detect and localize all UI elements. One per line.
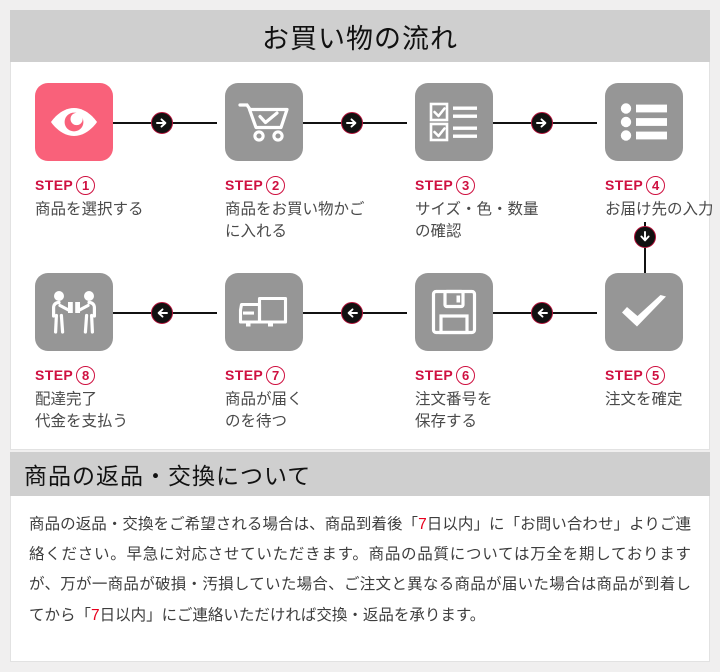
arrow-step6-to-step7 <box>341 302 363 324</box>
step-1[interactable]: STEP 1 商品を選択する <box>35 83 200 221</box>
returns-text-part-3: 日以内」にご連絡いただければ交換・返品を承ります。 <box>100 607 486 624</box>
step-6-description: 注文番号を 保存する <box>415 389 580 433</box>
step-1-label: STEP 1 <box>35 175 200 195</box>
floppy-disk-icon <box>431 289 477 335</box>
step-2-label: STEP 2 <box>225 175 390 195</box>
step-6[interactable]: STEP 6 注文番号を 保存する <box>415 273 580 433</box>
returns-policy-text: 商品の返品・交換をご希望される場合は、商品到着後「7日以内」に「お問い合わせ」よ… <box>29 510 691 631</box>
eye-icon <box>47 102 101 142</box>
shopping-cart-icon <box>238 99 290 145</box>
handoff-package-icon <box>48 289 100 335</box>
step-8[interactable]: STEP 8 配達完了 代金を支払う <box>35 273 200 433</box>
step-number: 1 <box>76 176 95 195</box>
step-number: 4 <box>646 176 665 195</box>
step-word: STEP <box>415 367 453 383</box>
step-number: 5 <box>646 366 665 385</box>
arrow-step3-to-step4 <box>531 112 553 134</box>
step-6-label: STEP 6 <box>415 365 580 385</box>
step-5-tile <box>605 273 683 351</box>
step-7[interactable]: STEP 7 商品が届く のを待つ <box>225 273 390 433</box>
step-word: STEP <box>225 177 263 193</box>
step-4-description: お届け先の入力 <box>605 199 720 221</box>
step-word: STEP <box>225 367 263 383</box>
step-6-tile <box>415 273 493 351</box>
delivery-truck-icon <box>237 292 291 332</box>
step-word: STEP <box>605 177 643 193</box>
step-4-label: STEP 4 <box>605 175 720 195</box>
returns-days-highlight-2: 7 <box>91 607 100 624</box>
step-8-label: STEP 8 <box>35 365 200 385</box>
step-5[interactable]: STEP 5 注文を確定 <box>605 273 720 411</box>
step-5-label: STEP 5 <box>605 365 720 385</box>
returns-policy-panel: 商品の返品・交換をご希望される場合は、商品到着後「7日以内」に「お問い合わせ」よ… <box>10 496 710 662</box>
step-7-description: 商品が届く のを待つ <box>225 389 390 433</box>
step-number: 6 <box>456 366 475 385</box>
list-icon <box>620 102 668 142</box>
step-3[interactable]: STEP 3 サイズ・色・数量 の確認 <box>415 83 580 243</box>
returns-text-part-1: 商品の返品・交換をご希望される場合は、商品到着後「 <box>29 516 418 533</box>
arrow-step2-to-step3 <box>341 112 363 134</box>
arrow-step1-to-step2 <box>151 112 173 134</box>
step-word: STEP <box>605 367 643 383</box>
step-number: 2 <box>266 176 285 195</box>
step-2-description: 商品をお買い物かご に入れる <box>225 199 390 243</box>
returns-section-header: 商品の返品・交換について <box>10 452 710 496</box>
arrow-step7-to-step8 <box>151 302 173 324</box>
shopping-flow-page: お買い物の流れ <box>0 0 720 672</box>
step-4-tile <box>605 83 683 161</box>
arrow-step5-to-step6 <box>531 302 553 324</box>
flow-diagram-panel: STEP 1 商品を選択する STEP 2 <box>10 62 710 450</box>
step-word: STEP <box>415 177 453 193</box>
checklist-icon <box>429 101 479 143</box>
step-8-tile <box>35 273 113 351</box>
returns-section-title: 商品の返品・交換について <box>24 457 311 491</box>
step-5-description: 注文を確定 <box>605 389 720 411</box>
step-word: STEP <box>35 177 73 193</box>
step-4[interactable]: STEP 4 お届け先の入力 <box>605 83 720 221</box>
flow-section-title: お買い物の流れ <box>262 17 458 56</box>
step-3-tile <box>415 83 493 161</box>
step-1-tile <box>35 83 113 161</box>
step-number: 8 <box>76 366 95 385</box>
step-8-description: 配達完了 代金を支払う <box>35 389 200 433</box>
step-2[interactable]: STEP 2 商品をお買い物かご に入れる <box>225 83 390 243</box>
step-word: STEP <box>35 367 73 383</box>
step-3-label: STEP 3 <box>415 175 580 195</box>
arrow-step4-to-step5 <box>634 226 656 248</box>
step-number: 3 <box>456 176 475 195</box>
returns-days-highlight-1: 7 <box>418 516 427 533</box>
checkmark-icon <box>618 290 670 334</box>
step-7-tile <box>225 273 303 351</box>
flow-section-header: お買い物の流れ <box>10 10 710 62</box>
step-number: 7 <box>266 366 285 385</box>
step-7-label: STEP 7 <box>225 365 390 385</box>
step-1-description: 商品を選択する <box>35 199 200 221</box>
step-2-tile <box>225 83 303 161</box>
step-3-description: サイズ・色・数量 の確認 <box>415 199 580 243</box>
